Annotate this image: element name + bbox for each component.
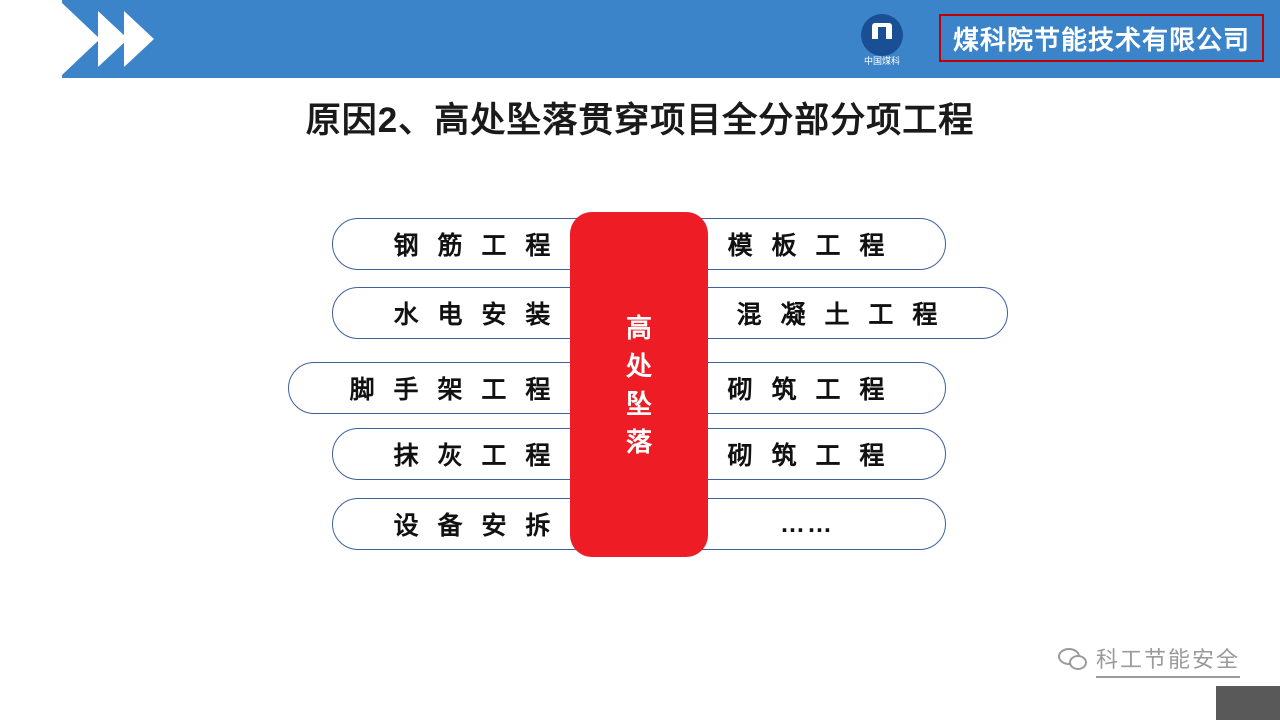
center-char-4: 落 [626,429,652,455]
list-item-right: 砌 筑 工 程 [666,362,946,414]
logo-circle-icon [861,14,903,56]
list-item-label: 脚 手 架 工 程 [344,370,557,406]
list-item-left: 脚 手 架 工 程 [288,362,612,414]
list-item-label: 混 凝 土 工 程 [731,295,944,331]
header-left-white-block [0,0,62,78]
wechat-icon [1058,648,1088,672]
list-item-label: 砌 筑 工 程 [722,370,891,406]
logo-text: 中国煤科 [856,54,908,67]
company-name: 煤科院节能技术有限公司 [953,20,1250,57]
list-item-label: 砌 筑 工 程 [722,436,891,472]
header-bar: 中国煤科 煤科院节能技术有限公司 [0,0,1280,78]
list-item-label: 钢 筋 工 程 [388,226,557,262]
chevron-icon-3 [124,11,154,67]
chevron-icon-1 [62,3,100,75]
center-char-2: 处 [626,353,652,379]
list-item-label: 水 电 安 装 [388,295,557,331]
wechat-watermark: 科工节能安全 [1058,642,1240,678]
logo-inner-mark [872,23,892,39]
center-hazard-label: 高 处 坠 落 [570,212,708,557]
list-item-right: …… [666,498,946,550]
watermark-label: 科工节能安全 [1096,642,1240,678]
center-char-3: 坠 [626,391,652,417]
list-item-right: 砌 筑 工 程 [666,428,946,480]
list-item-label: 抹 灰 工 程 [388,436,557,472]
list-item-label: …… [778,510,834,539]
list-item-label: 模 板 工 程 [722,226,891,262]
company-name-box: 煤科院节能技术有限公司 [939,14,1264,62]
company-logo: 中国煤科 [856,14,908,66]
corner-block [1216,686,1280,720]
list-item-right: 混 凝 土 工 程 [666,287,1008,339]
list-item-right: 模 板 工 程 [666,218,946,270]
center-char-1: 高 [626,315,652,341]
list-item-label: 设 备 安 拆 [388,506,557,542]
page-title: 原因2、高处坠落贯穿项目全分部分项工程 [0,92,1280,143]
